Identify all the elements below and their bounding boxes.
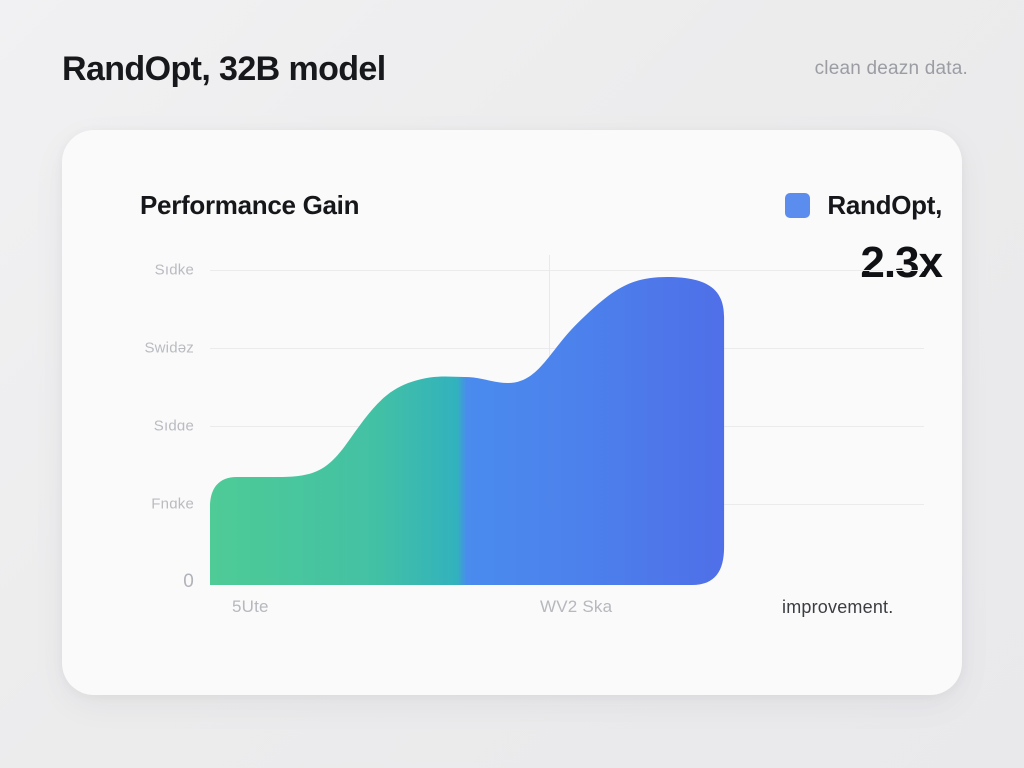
chart-card: Performance Gain RandOpt, 2.3x Sıdke Swi…	[62, 130, 962, 695]
y-tick-label: Sıdɑe	[154, 418, 194, 435]
area-series-wrapper	[210, 255, 924, 585]
chart-legend[interactable]: RandOpt,	[785, 190, 942, 221]
x-axis: 5Ute WV2 Ska improvement.	[210, 597, 924, 627]
page-header: RandOpt, 32B model clean deazn data.	[62, 40, 968, 98]
x-tick-label: 5Ute	[232, 597, 269, 617]
app-root: RandOpt, 32B model clean deazn data. Per…	[0, 0, 1024, 768]
y-tick-label: Swidəz	[144, 340, 194, 357]
y-tick-label-zero: 0	[183, 571, 194, 593]
y-tick-label: Fnɑke	[151, 496, 194, 513]
legend-swatch-icon	[785, 193, 810, 218]
y-axis: Sıdke Swidəz Sıdɑe Fnɑke 0	[124, 255, 202, 585]
y-tick-label: Sıdke	[155, 262, 194, 279]
legend-series-label: RandOpt,	[827, 190, 942, 221]
x-tick-label: WV2 Ska	[540, 597, 612, 617]
chart-title: Performance Gain	[140, 190, 359, 221]
header-note: clean deazn data.	[815, 40, 968, 98]
x-tick-label-improvement: improvement.	[782, 597, 893, 618]
area-series-path	[210, 277, 724, 585]
chart-plot-area: Sıdke Swidəz Sıdɑe Fnɑke 0	[124, 255, 924, 625]
area-chart-svg	[210, 255, 924, 585]
page-title: RandOpt, 32B model	[62, 40, 386, 98]
